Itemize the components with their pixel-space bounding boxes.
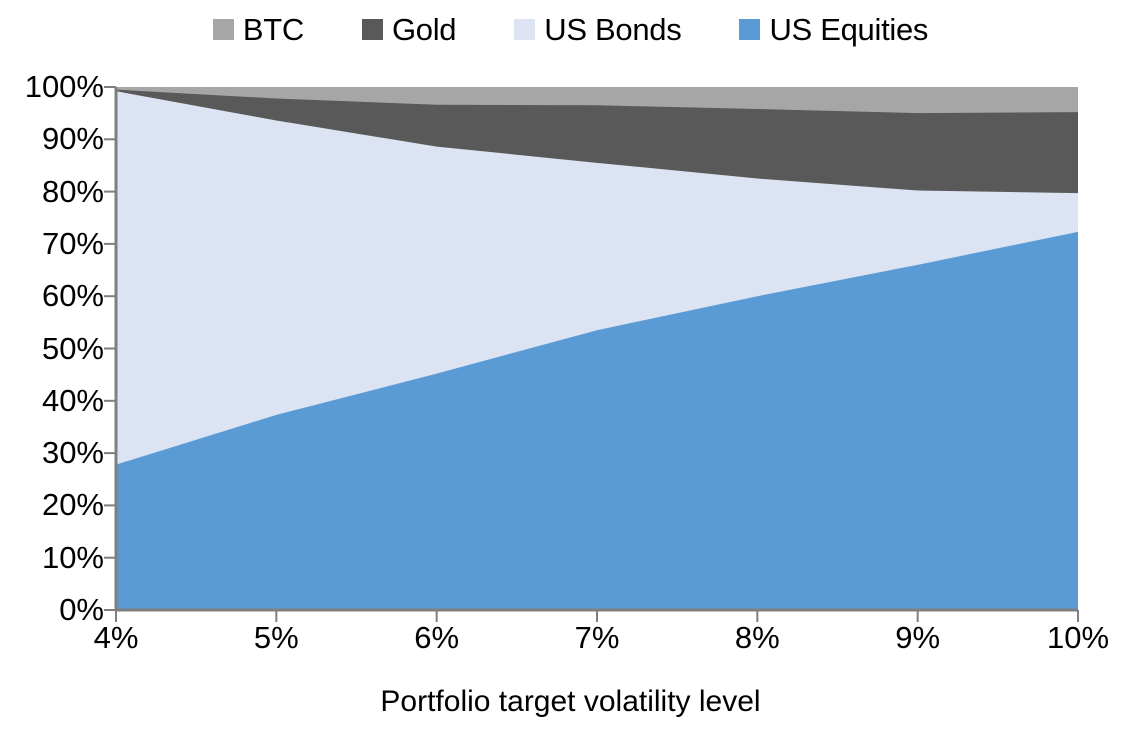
- x-tick-label: 8%: [735, 622, 780, 653]
- y-tick-label: 30%: [4, 437, 104, 468]
- x-tick-label: 5%: [254, 622, 299, 653]
- x-tick-label: 4%: [94, 622, 139, 653]
- x-tick-label: 7%: [575, 622, 620, 653]
- x-tick-label: 10%: [1047, 622, 1109, 653]
- x-axis-tick-labels: 4%5%6%7%8%9%10%: [0, 622, 1141, 668]
- y-tick-label: 0%: [4, 594, 104, 625]
- series-layer: [116, 87, 1078, 610]
- y-tick-label: 20%: [4, 489, 104, 520]
- y-tick-label: 10%: [4, 542, 104, 573]
- x-axis-title: Portfolio target volatility level: [0, 686, 1141, 718]
- y-tick-label: 100%: [4, 71, 104, 102]
- x-tick-label: 6%: [414, 622, 459, 653]
- y-tick-label: 90%: [4, 123, 104, 154]
- y-tick-label: 80%: [4, 176, 104, 207]
- plot-area: 0%10%20%30%40%50%60%70%80%90%100% 4%5%6%…: [0, 0, 1141, 742]
- y-tick-label: 60%: [4, 280, 104, 311]
- y-tick-label: 50%: [4, 333, 104, 364]
- y-tick-label: 70%: [4, 228, 104, 259]
- x-tick-label: 9%: [895, 622, 940, 653]
- stacked-area-chart: BTC Gold US Bonds US Equities 0%10%20%30…: [0, 0, 1141, 742]
- y-tick-label: 40%: [4, 385, 104, 416]
